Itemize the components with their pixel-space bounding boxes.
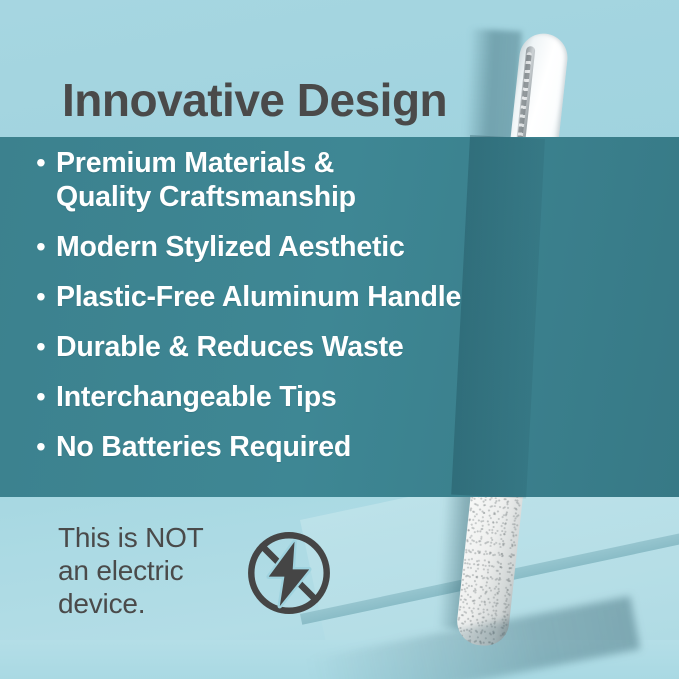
list-item: • No Batteries Required xyxy=(36,430,536,464)
page-title: Innovative Design xyxy=(62,73,447,127)
bullet-dot-icon: • xyxy=(36,280,56,314)
feature-label: Interchangeable Tips xyxy=(56,380,337,414)
bullet-dot-icon: • xyxy=(36,380,56,414)
bullet-dot-icon: • xyxy=(36,146,56,180)
bullet-dot-icon: • xyxy=(36,430,56,464)
list-item: • Premium Materials & Quality Craftsmans… xyxy=(36,146,536,214)
product-feature-graphic: stackedskincare® Innovative Design • Pre… xyxy=(0,0,679,679)
feature-label: No Batteries Required xyxy=(56,430,351,464)
feature-label: Durable & Reduces Waste xyxy=(56,330,404,364)
list-item: • Plastic-Free Aluminum Handle xyxy=(36,280,536,314)
feature-label: Premium Materials & Quality Craftsmanshi… xyxy=(56,146,356,214)
list-item: • Durable & Reduces Waste xyxy=(36,330,536,364)
bullet-dot-icon: • xyxy=(36,230,56,264)
list-item: • Modern Stylized Aesthetic xyxy=(36,230,536,264)
feature-label: Plastic-Free Aluminum Handle xyxy=(56,280,461,314)
feature-label: Modern Stylized Aesthetic xyxy=(56,230,405,264)
feature-list: • Premium Materials & Quality Craftsmans… xyxy=(36,146,536,480)
bullet-dot-icon: • xyxy=(36,330,56,364)
list-item: • Interchangeable Tips xyxy=(36,380,536,414)
no-electricity-icon xyxy=(243,527,335,619)
